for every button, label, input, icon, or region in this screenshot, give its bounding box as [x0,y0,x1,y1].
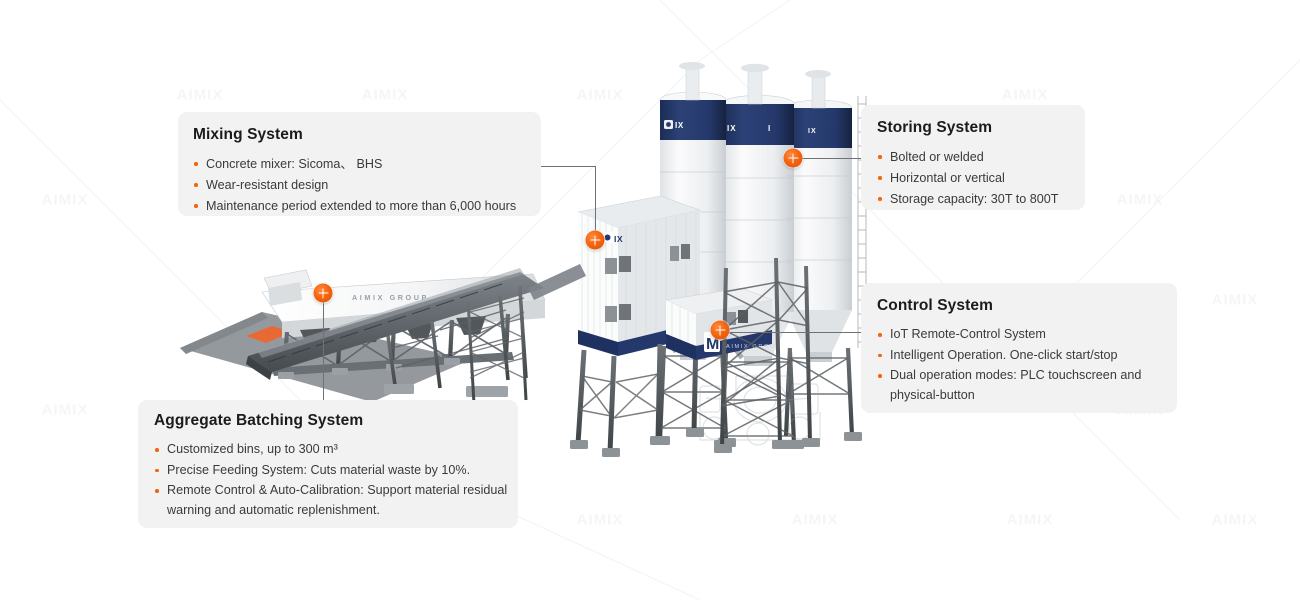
list-item: Remote Control & Auto-Calibration: Suppo… [154,481,518,520]
bullet-dot [155,469,159,473]
list-item: Customized bins, up to 300 m³ [154,440,518,460]
list-item: Maintenance period extended to more than… [193,196,541,216]
list-item: Bolted or welded [877,147,1085,167]
panel-mixing-system: Mixing System Concrete mixer: Sicoma、 BH… [178,112,541,216]
list-item: Horizontal or vertical [877,168,1085,188]
svg-text:IX: IX [675,121,684,130]
panel-title-aggregate: Aggregate Batching System [138,400,518,430]
panel-list-aggregate: Customized bins, up to 300 m³ Precise Fe… [138,430,518,520]
connector-mixing-horizontal [541,166,595,167]
list-item: Intelligent Operation. One-click start/s… [877,346,1177,366]
aggregate-system-hotspot[interactable] [314,284,333,303]
connector-aggregate-vertical [323,293,324,400]
list-item: Concrete mixer: Sicoma、 BHS [193,154,541,174]
connector-storing-horizontal [793,158,861,159]
list-item: IoT Remote-Control System [877,325,1177,345]
panel-control-system: Control System IoT Remote-Control System… [861,283,1177,413]
list-item-text: Horizontal or vertical [890,171,1005,185]
list-item-text: Wear-resistant design [206,178,328,192]
bullet-dot [878,155,882,159]
list-item-text: Customized bins, up to 300 m³ [167,442,338,456]
panel-title-storing: Storing System [861,105,1085,137]
bullet-dot [878,354,882,358]
storing-system-hotspot[interactable] [784,149,803,168]
list-item-text: Maintenance period extended to more than… [206,199,516,213]
list-item-text: Dual operation modes: PLC touchscreen an… [890,368,1141,402]
bullet-dot [155,448,159,452]
panel-list-storing: Bolted or welded Horizontal or vertical … [861,137,1085,209]
list-item-text: Remote Control & Auto-Calibration: Suppo… [167,483,507,517]
bullet-dot [194,204,198,208]
list-item-text: Intelligent Operation. One-click start/s… [890,348,1118,362]
panel-aggregate-batching-system: Aggregate Batching System Customized bin… [138,400,518,528]
connector-mixing-vertical [595,166,596,240]
bullet-dot [878,197,882,201]
panel-title-mixing: Mixing System [178,112,541,144]
bullet-dot [878,333,882,337]
panel-title-control: Control System [861,283,1177,315]
bullet-dot [194,162,198,166]
list-item-text: Concrete mixer: Sicoma、 BHS [206,157,382,171]
svg-text:AIMIX GROUP: AIMIX GROUP [352,293,429,302]
control-system-hotspot[interactable] [711,321,730,340]
panel-list-control: IoT Remote-Control System Intelligent Op… [861,315,1177,405]
list-item: Precise Feeding System: Cuts material wa… [154,461,518,481]
list-item-text: Precise Feeding System: Cuts material wa… [167,463,470,477]
bullet-dot [878,176,882,180]
list-item: Storage capacity: 30T to 800T [877,189,1085,209]
bullet-dot [878,374,882,378]
connector-control-horizontal [720,332,861,333]
list-item-text: Bolted or welded [890,150,984,164]
panel-storing-system: Storing System Bolted or welded Horizont… [861,105,1085,210]
mixing-system-hotspot[interactable] [586,231,605,250]
svg-text:IX: IX [614,234,623,244]
panel-list-mixing: Concrete mixer: Sicoma、 BHS Wear-resista… [178,144,541,216]
svg-text:IX: IX [727,124,737,133]
silo-3: IX [786,70,852,362]
bullet-dot [194,183,198,187]
list-item: Wear-resistant design [193,175,541,195]
list-item-text: Storage capacity: 30T to 800T [890,192,1058,206]
list-item-text: IoT Remote-Control System [890,327,1046,341]
bullet-dot [155,489,159,493]
diagram-canvas: AIMIX AIMIX AIMIX AIMIX AIMIX AIMIX AIMI… [0,0,1300,600]
list-item: Dual operation modes: PLC touchscreen an… [877,366,1177,405]
svg-text:I: I [768,124,770,133]
svg-text:IX: IX [808,128,817,135]
